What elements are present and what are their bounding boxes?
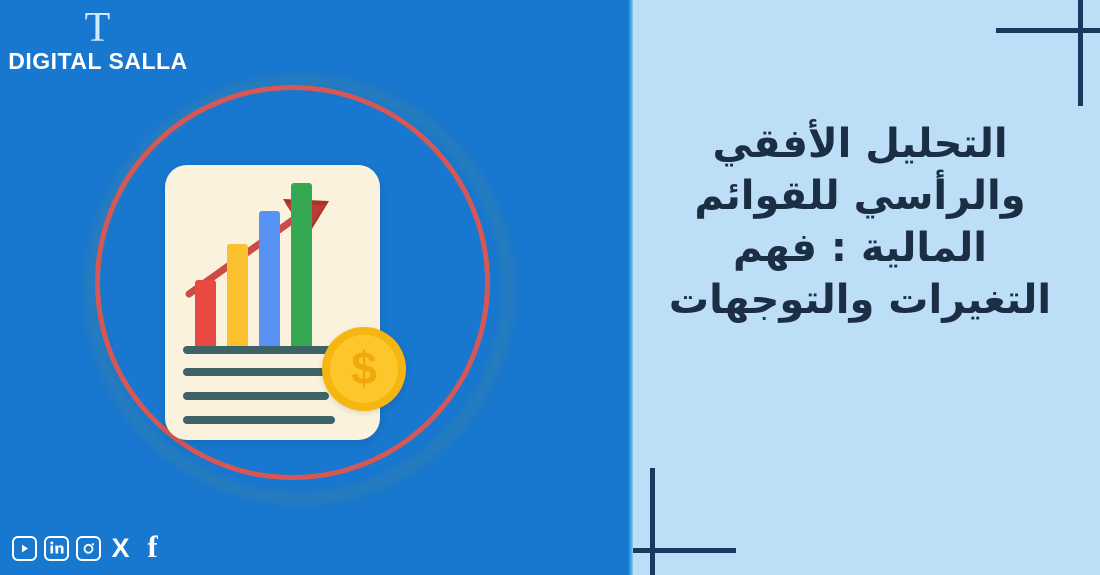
document-text-line-3 [183,416,335,424]
banner-graphic: T DIGITAL SALLA [0,0,1100,575]
brand-name-text: DIGITAL SALLA [8,48,188,75]
brand-logo: T DIGITAL SALLA [8,6,188,75]
crosshair-bottom-left-vertical [650,468,655,575]
social-icon-bar: X f [12,533,165,563]
facebook-glyph: f [147,531,157,562]
chart-bar-4 [291,183,312,346]
x-glyph: X [111,535,129,562]
crosshair-top-right-horizontal [996,28,1100,33]
logo-t-mark: T [8,6,188,50]
dollar-sign-glyph: $ [351,345,377,391]
document-text-line-2 [183,392,329,400]
document-text-line-1 [183,368,335,376]
headline-title: التحليل الأفقي والرأسي للقوائم المالية :… [660,118,1060,326]
instagram-icon[interactable] [76,536,101,561]
chart-bar-2 [227,244,248,346]
chart-bar-3 [259,211,280,346]
dollar-coin-icon: $ [322,327,406,411]
x-icon[interactable]: X [108,536,133,561]
youtube-icon[interactable] [12,536,37,561]
facebook-icon[interactable]: f [140,536,165,561]
crosshair-top-right-vertical [1078,0,1083,106]
dollar-coin-inner: $ [330,335,398,403]
circular-illustration: $ [85,75,500,490]
linkedin-icon[interactable] [44,536,69,561]
chart-bar-1 [195,280,216,346]
crosshair-bottom-left-horizontal [633,548,736,553]
